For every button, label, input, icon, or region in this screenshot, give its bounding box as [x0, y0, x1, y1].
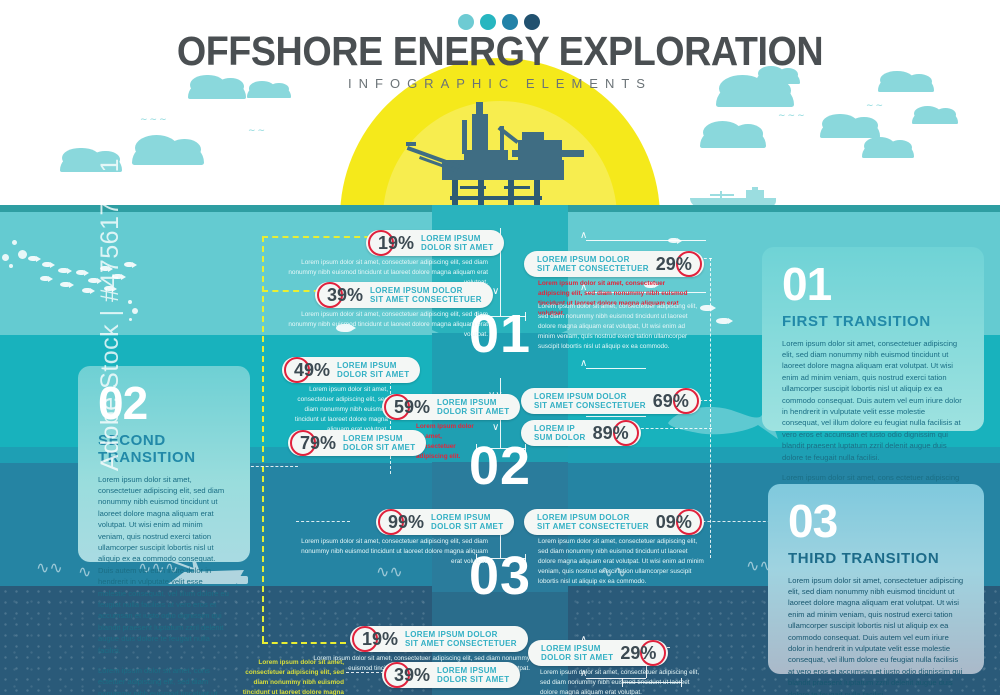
panel-third-transition[interactable]: 03 THIRD TRANSITION Lorem ipsum dolor si… — [768, 484, 984, 674]
bracket-line — [586, 416, 646, 417]
badge-body: Lorem ipsum dolor sit amet, consectetuer… — [540, 668, 706, 695]
arrow-marker-icon: ∧ — [580, 232, 587, 240]
panel-body-1: Lorem ipsum dolor sit amet, consectetuer… — [782, 338, 964, 463]
measure-bar — [476, 448, 526, 449]
stat-badge[interactable]: LOREM IPSUM DOLOR SIT AMET CONSECTETUER … — [521, 388, 701, 414]
stat-badge[interactable]: 49% LOREM IPSUM DOLOR SIT AMET — [282, 357, 420, 383]
stat-badge[interactable]: LOREM IPSUM DOLOR SIT AMET CONSECTETUER … — [524, 251, 704, 277]
panel-title: THIRD TRANSITION — [788, 550, 964, 567]
panel-body-2: Lorem ipsum dolor sit amet, cons ectetue… — [98, 665, 230, 695]
badge-percent: 09% — [656, 513, 692, 531]
highlight-frame-bottom — [262, 642, 346, 644]
cloud-icon — [912, 112, 958, 124]
dashed-frame-right — [710, 258, 711, 558]
page-subtitle: INFOGRAPHIC ELEMENTS — [0, 76, 1000, 91]
badge-body: Lorem ipsum dolor sit amet, consectetuer… — [278, 310, 488, 340]
stat-badge[interactable]: LOREM IPSUM DOLOR SIT AMET CONSECTETUER … — [524, 509, 704, 535]
badge-body: Lorem ipsum dolor sit amet, consectetuer… — [290, 537, 488, 567]
panel-number: 03 — [788, 500, 964, 544]
panel-title: FIRST TRANSITION — [782, 313, 964, 330]
panel-body-1: Lorem ipsum dolor sit amet, consectetuer… — [788, 575, 964, 695]
badge-body: Lorem ipsum dolor sit amet, consectetuer… — [538, 537, 706, 587]
bracket-line — [586, 240, 706, 241]
badge-percent: 39% — [327, 286, 363, 304]
badge-percent: 69% — [653, 392, 689, 410]
arrow-marker-icon: ∨ — [492, 288, 499, 296]
panel-first-transition[interactable]: 01 FIRST TRANSITION Lorem ipsum dolor si… — [762, 247, 984, 431]
badge-label: LOREM IPSUM DOLOR SIT AMET — [437, 666, 509, 684]
arrow-marker-icon: ∨ — [492, 424, 499, 432]
birds-icon: ∼∼∼ — [140, 116, 169, 123]
dashed-connector — [636, 428, 712, 429]
infographic-canvas: ∼∼∼ ∼∼ ∼∼∼ ∼∼ ∼∼ — [0, 0, 1000, 695]
birds-icon: ∼∼ — [828, 128, 847, 135]
seaweed-icon: ∿∿ — [36, 558, 63, 578]
bracket-line — [586, 368, 646, 369]
page-title: OFFSHORE ENERGY EXPLORATION — [40, 28, 960, 75]
badge-label: LOREM IPSUM DOLOR SIT AMET — [421, 234, 493, 252]
ship-icon — [690, 190, 776, 205]
badge-label: LOREM IPSUM DOLOR SIT AMET — [541, 644, 613, 662]
fish-icon — [716, 318, 729, 324]
badge-percent: 19% — [362, 630, 398, 648]
measure-tick — [525, 554, 526, 563]
badge-label: LOREM IPSUM DOLOR SIT AMET CONSECTETUER — [537, 255, 649, 273]
arrow-marker-icon: ∧ — [580, 360, 587, 368]
badge-label: LOREM IPSUM DOLOR SIT AMET CONSECTETUER — [534, 392, 646, 410]
panel-number: 01 — [782, 263, 964, 307]
badge-label: LOREM IPSUM DOLOR SIT AMET — [431, 513, 503, 531]
badge-percent: 59% — [394, 398, 430, 416]
watermark-text: Adobe Stock | #475617701 — [96, 158, 125, 471]
badge-percent: 89% — [593, 424, 629, 442]
seaweed-icon: ∿ — [78, 562, 91, 582]
badge-label: LOREM IPSUM DOLOR SIT AMET CONSECTETUER — [370, 286, 482, 304]
badge-label: LOREM IPSUM DOLOR SIT AMET — [337, 361, 409, 379]
badge-label: LOREM IPSUM DOLOR SIT AMET CONSECTETUER — [537, 513, 649, 531]
dashed-connector — [296, 521, 350, 522]
stat-badge[interactable]: 99% LOREM IPSUM DOLOR SIT AMET — [376, 509, 514, 535]
badge-body: Lorem ipsum dolor sit amet, consectetuer… — [288, 385, 388, 435]
dashed-connector — [246, 466, 298, 467]
birds-icon: ∼∼∼ — [778, 112, 807, 119]
badge-label: LOREM IP SUM DOLOR — [534, 424, 586, 442]
badge-percent: 99% — [388, 513, 424, 531]
badge-body: Lorem ipsum dolor sit amet, consectetuer… — [538, 302, 702, 352]
panel-body-1: Lorem ipsum dolor sit amet, consectetuer… — [98, 474, 230, 656]
badge-body-highlight: Lorem ipsum dolor sit amet, consectetuer… — [232, 658, 344, 695]
cloud-icon — [862, 144, 914, 158]
birds-icon: ∼∼ — [248, 127, 267, 134]
stat-badge[interactable]: LOREM IP SUM DOLOR 89% — [521, 420, 641, 446]
badge-percent: 49% — [294, 361, 330, 379]
measure-tick — [525, 444, 526, 453]
oil-rig-icon — [400, 100, 610, 208]
badge-percent: 79% — [300, 434, 336, 452]
badge-label: LOREM IPSUM DOLOR SIT AMET — [343, 434, 415, 452]
cloud-icon — [132, 145, 204, 165]
stat-badge[interactable]: 39% LOREM IPSUM DOLOR SIT AMET CONSECTET… — [315, 282, 493, 308]
cloud-icon — [700, 130, 766, 148]
birds-icon: ∼∼ — [866, 102, 885, 109]
stat-badge[interactable]: 39% LOREM IPSUM DOLOR SIT AMET — [382, 662, 520, 688]
stat-badge[interactable]: 19% LOREM IPSUM DOLOR SIT AMET CONSECTET… — [350, 626, 528, 652]
badge-label: LOREM IPSUM DOLOR SIT AMET — [437, 398, 509, 416]
badge-percent: 29% — [620, 644, 656, 662]
badge-percent: 19% — [378, 234, 414, 252]
stat-badge[interactable]: 59% LOREM IPSUM DOLOR SIT AMET — [382, 394, 520, 420]
measure-tick — [525, 312, 526, 321]
badge-percent: 39% — [394, 666, 430, 684]
stat-badge[interactable]: 19% LOREM IPSUM DOLOR SIT AMET — [366, 230, 504, 256]
stat-badge[interactable]: 79% LOREM IPSUM DOLOR SIT AMET — [288, 430, 426, 456]
badge-label: LOREM IPSUM DOLOR SIT AMET CONSECTETUER — [405, 630, 517, 648]
badge-percent: 29% — [656, 255, 692, 273]
stat-badge[interactable]: LOREM IPSUM DOLOR SIT AMET 29% — [528, 640, 668, 666]
highlight-frame-left — [262, 236, 264, 642]
